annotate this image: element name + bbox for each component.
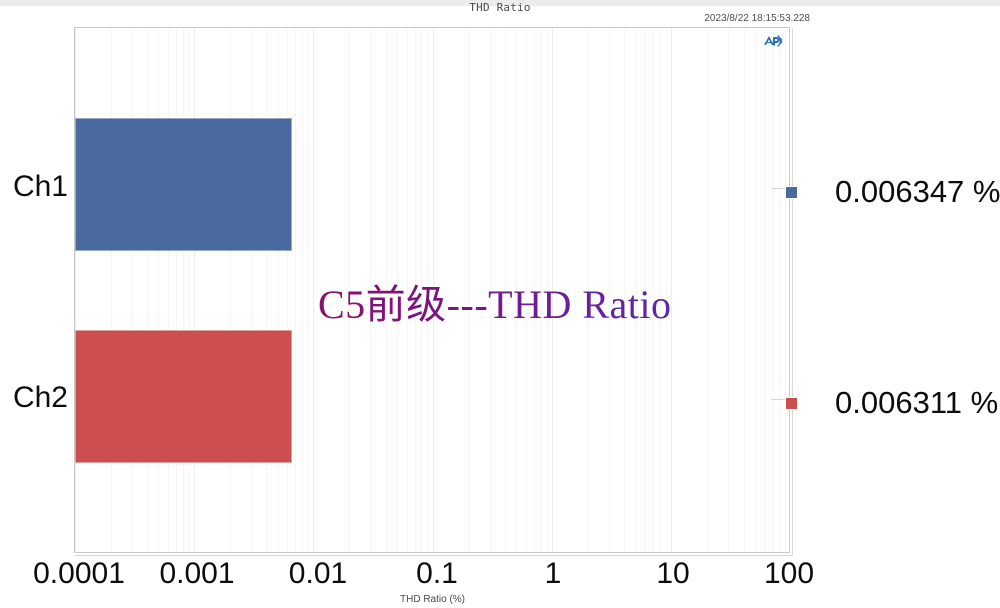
x-tick-6: 100 <box>764 557 814 591</box>
gridline-minor <box>707 28 708 552</box>
chart-window-title: THD Ratio <box>0 1 1000 14</box>
legend-swatch-ch1 <box>785 186 798 199</box>
gridline-minor <box>183 28 184 552</box>
legend-item-ch1[interactable]: 0.006347 % <box>785 174 1000 210</box>
gridline-minor <box>158 28 159 552</box>
gridline-minor <box>251 28 252 552</box>
x-tick-2: 0.01 <box>289 557 347 591</box>
gridline-minor <box>728 28 729 552</box>
x-tick-1: 0.001 <box>159 557 234 591</box>
gridline-minor <box>176 28 177 552</box>
capture-timestamp: 2023/8/22 18:15:53.228 <box>704 13 810 24</box>
gridline-minor <box>147 28 148 552</box>
gridline-major-0.0001 <box>75 28 76 552</box>
legend-value-ch1: 0.006347 % <box>835 174 1000 210</box>
gridline-minor <box>308 28 309 552</box>
chart-annotation: C5前级---THD Ratio <box>318 272 672 330</box>
gridline-minor <box>773 28 774 552</box>
gridline-minor <box>295 28 296 552</box>
ap-logo-icon <box>761 32 783 50</box>
gridline-minor <box>779 28 780 552</box>
gridline-minor <box>744 28 745 552</box>
gridline-minor <box>278 28 279 552</box>
x-axis-title: THD Ratio (%) <box>0 594 865 605</box>
gridline-minor <box>111 28 112 552</box>
gridline-minor <box>168 28 169 552</box>
gridline-minor <box>755 28 756 552</box>
legend-swatch-ch2 <box>785 397 798 410</box>
legend-value-ch2: 0.006311 % <box>835 385 998 421</box>
x-tick-4: 1 <box>545 557 562 591</box>
x-tick-3: 0.1 <box>416 557 458 591</box>
gridline-minor <box>302 28 303 552</box>
x-tick-5: 10 <box>656 557 689 591</box>
gridline-minor <box>785 28 786 552</box>
bar-ch2[interactable] <box>75 330 292 463</box>
y-label-ch2: Ch2 <box>2 381 68 415</box>
x-tick-0: 0.0001 <box>33 557 125 591</box>
legend-item-ch2[interactable]: 0.006311 % <box>785 385 998 421</box>
gridline-minor <box>230 28 231 552</box>
gridline-minor <box>132 28 133 552</box>
gridline-minor <box>287 28 288 552</box>
gridline-minor <box>765 28 766 552</box>
gridline-minor <box>189 28 190 552</box>
gridline-minor <box>266 28 267 552</box>
bar-ch1[interactable] <box>75 118 292 251</box>
gridline-major-0.001 <box>194 28 195 552</box>
y-label-ch1: Ch1 <box>2 170 68 204</box>
gridline-major-0.01 <box>313 28 314 552</box>
chart-screenshot: THD Ratio 2023/8/22 18:15:53.228 <box>0 0 1000 608</box>
